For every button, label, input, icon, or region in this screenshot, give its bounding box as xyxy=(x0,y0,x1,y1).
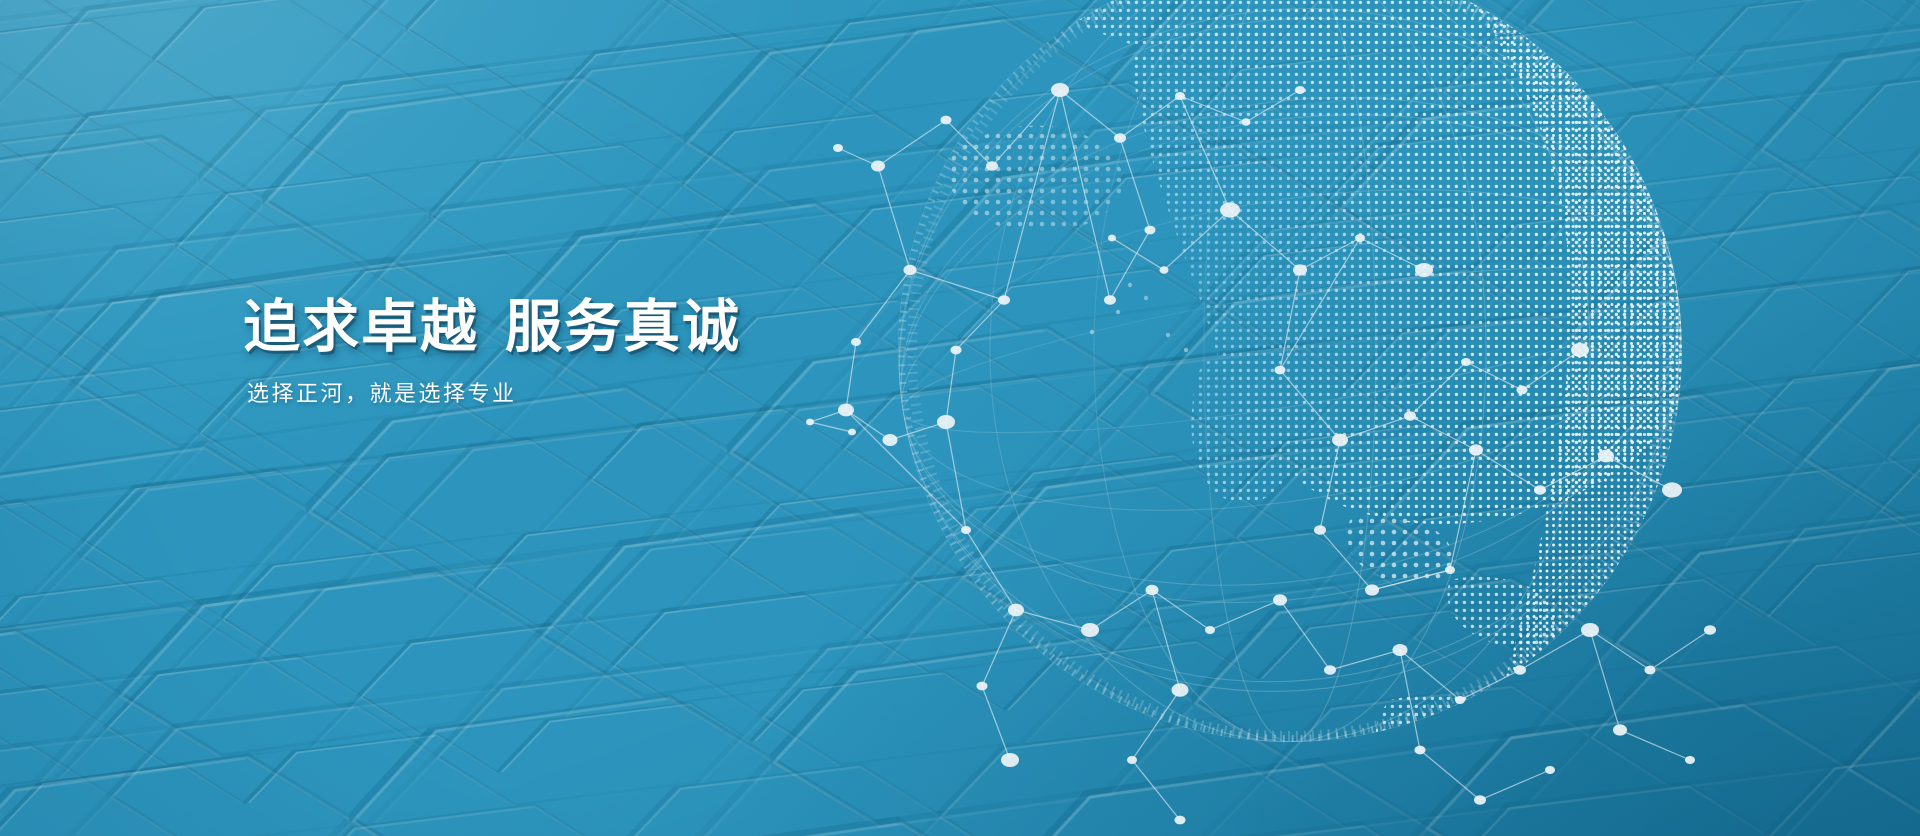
banner-headline: 追求卓越服务真诚 xyxy=(243,296,1003,360)
hero-banner: 追求卓越服务真诚 选择正河，就是选择专业 xyxy=(0,0,1920,836)
banner-copy: 追求卓越服务真诚 选择正河，就是选择专业 xyxy=(243,296,1003,408)
background-vignette xyxy=(0,0,1920,836)
banner-subheadline: 选择正河，就是选择专业 xyxy=(247,380,1003,409)
headline-part-2: 服务真诚 xyxy=(505,295,741,359)
headline-part-1: 追求卓越 xyxy=(243,295,479,359)
